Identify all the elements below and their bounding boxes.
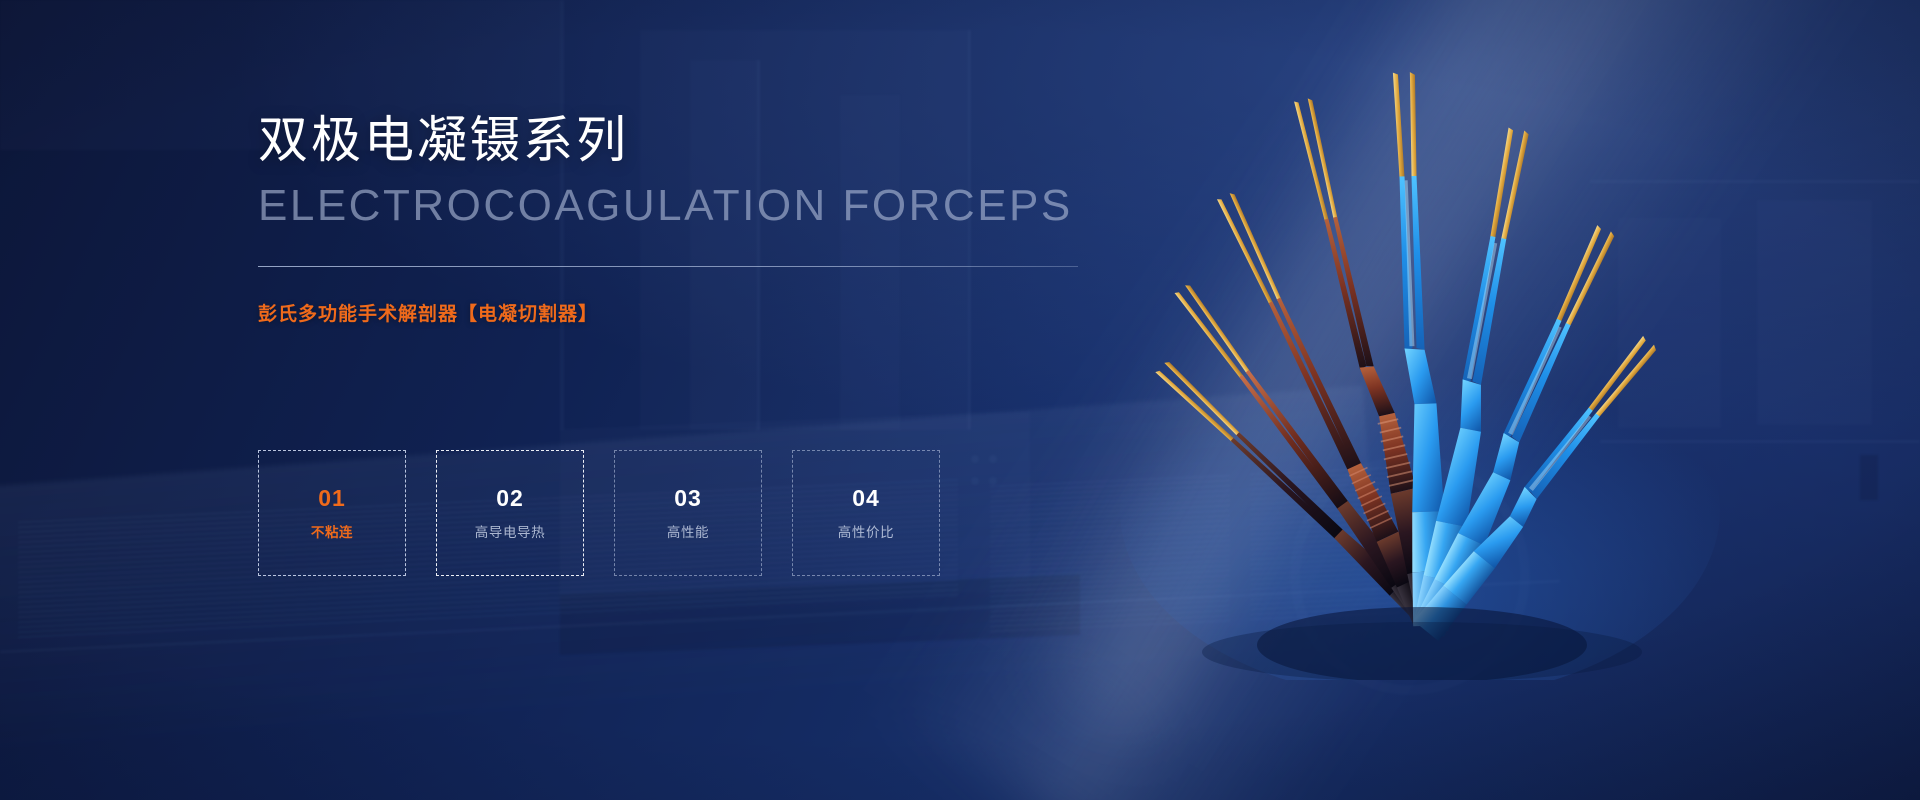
title-divider: [258, 266, 1078, 267]
feature-label: 高性价比: [838, 526, 894, 540]
feature-number: 04: [852, 487, 880, 510]
feature-label: 不粘连: [311, 526, 353, 540]
feature-item-04[interactable]: 04 高性价比: [792, 450, 940, 576]
feature-label: 高导电导热: [475, 526, 546, 540]
feature-item-02[interactable]: 02 高导电导热: [436, 450, 584, 576]
feature-number: 03: [674, 487, 702, 510]
feature-item-03[interactable]: 03 高性能: [614, 450, 762, 576]
banner-content: 双极电凝镊系列 ELECTROCOAGULATION FORCEPS 彭氏多功能…: [258, 112, 1158, 326]
page-title-english: ELECTROCOAGULATION FORCEPS: [258, 182, 1158, 230]
page-title: 双极电凝镊系列: [258, 112, 1158, 170]
product-banner: 双极电凝镊系列 ELECTROCOAGULATION FORCEPS 彭氏多功能…: [0, 0, 1920, 800]
feature-list: 01 不粘连 02 高导电导热 03 高性能 04 高性价比: [258, 450, 940, 576]
feature-number: 02: [496, 487, 524, 510]
feature-label: 高性能: [667, 526, 709, 540]
feature-number: 01: [318, 487, 346, 510]
feature-item-01[interactable]: 01 不粘连: [258, 450, 406, 576]
page-subtitle: 彭氏多功能手术解剖器【电凝切割器】: [258, 299, 1158, 326]
